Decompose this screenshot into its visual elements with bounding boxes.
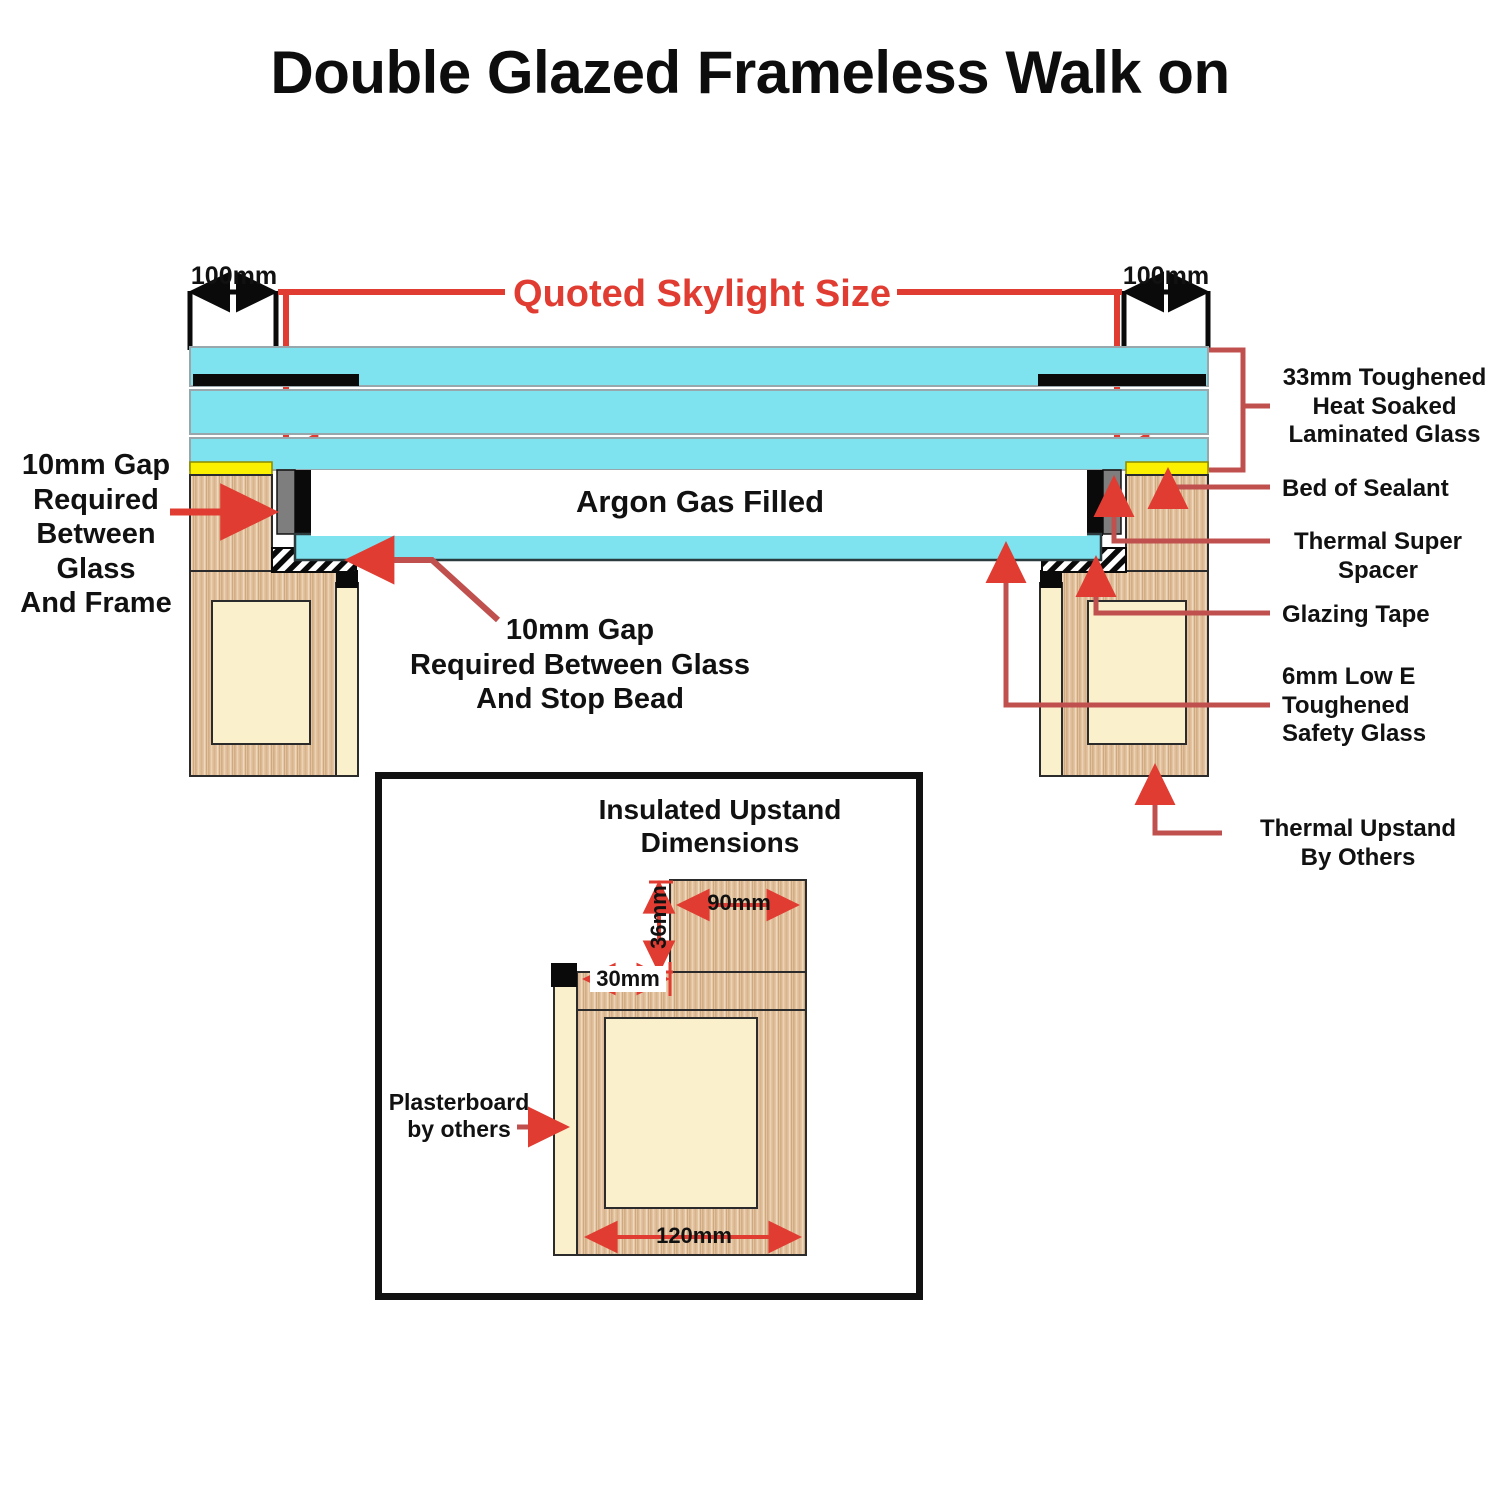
label-thermal-super-spacer: Thermal Super Spacer bbox=[1278, 528, 1478, 585]
center-gap-callout-arrow bbox=[350, 560, 498, 620]
bed-of-sealant-left bbox=[190, 462, 272, 475]
dimension-right-100mm-label: 100mm bbox=[1118, 262, 1214, 292]
label-line: 6mm Low E bbox=[1282, 663, 1500, 692]
quoted-skylight-size-label: Quoted Skylight Size bbox=[504, 272, 900, 317]
label-thermal-upstand: Thermal Upstand By Others bbox=[1228, 815, 1488, 872]
callout-line: Required Between Glass bbox=[380, 648, 780, 683]
label-low-e-glass: 6mm Low E Toughened Safety Glass bbox=[1282, 663, 1500, 749]
argon-gas-filled-label: Argon Gas Filled bbox=[500, 484, 900, 521]
callout-line: Required bbox=[6, 483, 186, 518]
left-gap-callout-label: 10mm Gap Required Between Glass And Fram… bbox=[6, 448, 186, 621]
center-gap-callout-label: 10mm Gap Required Between Glass And Stop… bbox=[380, 613, 780, 717]
insulation-core-right bbox=[1088, 601, 1186, 744]
laminated-glass-stack bbox=[190, 347, 1208, 470]
spacer-seal-left bbox=[295, 470, 311, 536]
dimension-left-100mm-label: 100mm bbox=[186, 262, 282, 292]
label-line: Thermal Upstand bbox=[1228, 815, 1488, 844]
label-bed-of-sealant: Bed of Sealant bbox=[1282, 475, 1500, 504]
inset-title-line: Dimensions bbox=[520, 826, 920, 859]
inset-title: Insulated Upstand Dimensions bbox=[520, 793, 920, 860]
label-line: Bed of Sealant bbox=[1282, 475, 1500, 504]
plasterboard-left bbox=[336, 583, 358, 776]
label-glazing-tape: Glazing Tape bbox=[1282, 601, 1500, 630]
label-line: Toughened bbox=[1282, 692, 1500, 721]
inset-dim-30mm-label: 30mm bbox=[590, 966, 666, 992]
label-line: Heat Soaked bbox=[1272, 393, 1497, 422]
callout-line: 10mm Gap bbox=[6, 448, 186, 483]
callout-line: And Frame bbox=[6, 586, 186, 621]
label-line: Thermal Super bbox=[1278, 528, 1478, 557]
label-line: Plasterboard bbox=[385, 1089, 533, 1116]
inset-dim-120mm-label: 120mm bbox=[646, 1223, 742, 1249]
label-line: Laminated Glass bbox=[1272, 421, 1497, 450]
dimension-right-100mm bbox=[1124, 291, 1208, 350]
inset-plasterboard-label: Plasterboard by others bbox=[385, 1089, 533, 1144]
callout-line: Between bbox=[6, 517, 186, 552]
label-line: 33mm Toughened bbox=[1272, 364, 1497, 393]
label-line: By Others bbox=[1228, 844, 1488, 873]
interlayer-right bbox=[1038, 374, 1206, 386]
label-line: by others bbox=[385, 1116, 533, 1143]
inset-dim-90mm-label: 90mm bbox=[696, 890, 782, 916]
callout-line: 10mm Gap bbox=[380, 613, 780, 648]
label-line: Safety Glass bbox=[1282, 720, 1500, 749]
interlayer-left bbox=[193, 374, 359, 386]
callout-line: Glass bbox=[6, 552, 186, 587]
plasterboard-right bbox=[1040, 583, 1062, 776]
callout-line: And Stop Bead bbox=[380, 682, 780, 717]
inset-dim-36mm-label: 36mm bbox=[646, 874, 672, 960]
spacer-seal-right bbox=[1087, 470, 1103, 536]
insulation-core-left bbox=[212, 601, 310, 744]
label-laminated-glass: 33mm Toughened Heat Soaked Laminated Gla… bbox=[1272, 364, 1497, 450]
low-e-pane bbox=[295, 534, 1101, 560]
label-line: Spacer bbox=[1278, 557, 1478, 586]
label-line: Glazing Tape bbox=[1282, 601, 1500, 630]
thermal-super-spacer-left bbox=[277, 470, 295, 534]
dimension-left-100mm bbox=[190, 291, 276, 350]
inset-title-line: Insulated Upstand bbox=[520, 793, 920, 826]
diagram-canvas: Double Glazed Frameless Walk on bbox=[0, 0, 1500, 1500]
